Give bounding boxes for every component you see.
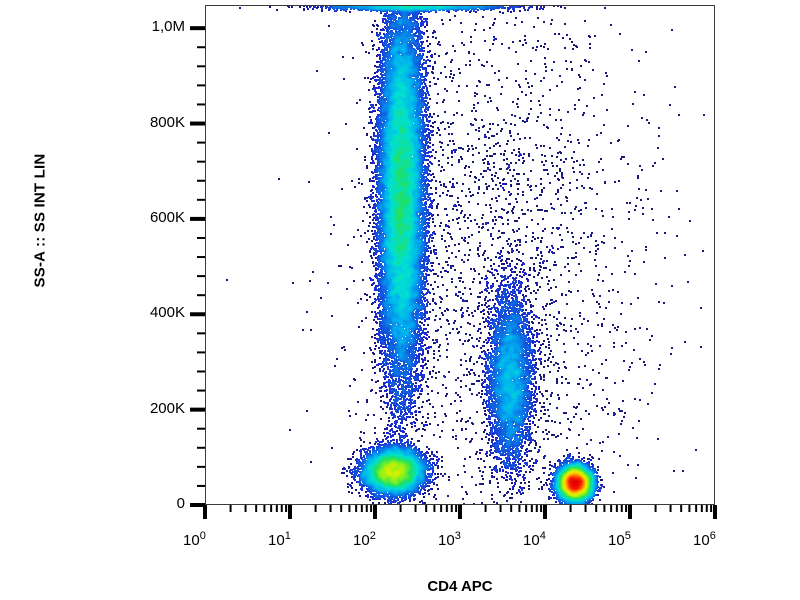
y-axis-title: SS-A :: SS INT LIN [32, 101, 49, 341]
flow-cytometry-figure: 0200K400K600K800K1,0M 100101102103104105… [0, 0, 800, 600]
x-tick-label: 106 [693, 530, 716, 549]
y-tick-label: 0 [100, 495, 185, 512]
y-tick-label: 800K [100, 114, 185, 131]
scatter-plot-canvas [205, 5, 715, 505]
x-axis-title: CD4 APC [205, 578, 715, 595]
x-tick-label: 105 [608, 530, 631, 549]
y-tick-label: 400K [100, 304, 185, 321]
y-tick-label: 600K [100, 209, 185, 226]
y-tick-label: 1,0M [100, 18, 185, 35]
x-tick-label: 104 [523, 530, 546, 549]
x-tick-label: 102 [353, 530, 376, 549]
x-tick-label: 101 [268, 530, 291, 549]
x-tick-label: 103 [438, 530, 461, 549]
x-tick-label: 100 [183, 530, 206, 549]
y-tick-label: 200K [100, 400, 185, 417]
